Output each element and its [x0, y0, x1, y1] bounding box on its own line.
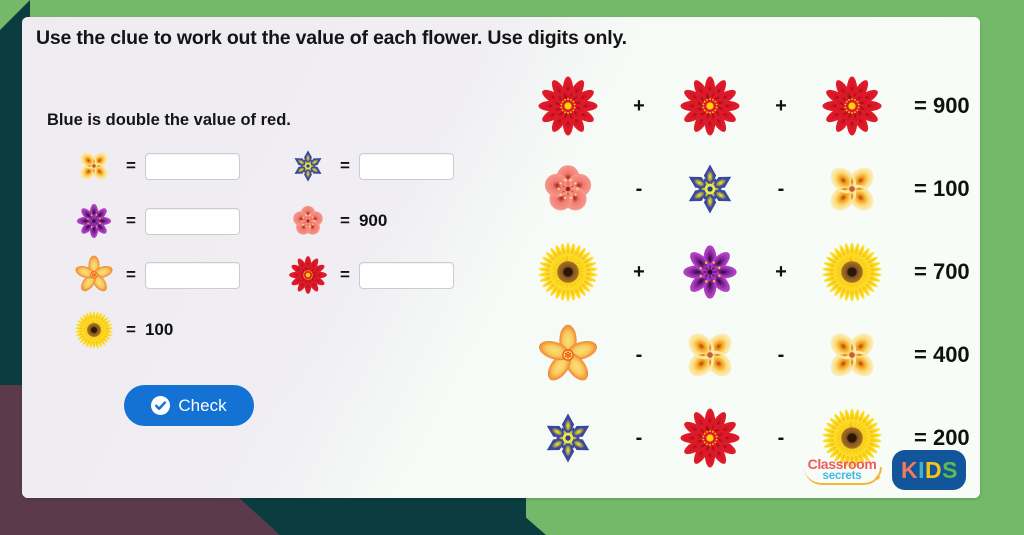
sunflower-flower-glyph — [71, 307, 117, 353]
equals-symbol: = — [126, 265, 136, 285]
red-flower-glyph — [674, 70, 746, 142]
check-button[interactable]: Check — [124, 385, 254, 426]
equation-operator: + — [756, 95, 806, 118]
equation-operator: - — [614, 178, 664, 201]
blue-star-flower-glyph — [532, 402, 604, 474]
kids-logo: K I D S — [892, 450, 966, 490]
red-flower-icon — [522, 70, 614, 142]
blue-star-flower-icon — [522, 402, 614, 474]
answer-input-bluestar[interactable] — [359, 153, 454, 180]
kids-letter-k: K — [901, 457, 917, 484]
equals-symbol: = — [340, 156, 350, 176]
plumeria-flower-glyph — [816, 319, 888, 391]
purple-flower-icon — [70, 198, 118, 244]
equals-symbol: = — [340, 211, 350, 231]
equation-operator: - — [614, 344, 664, 367]
check-circle-icon — [151, 396, 170, 415]
plumeria-flower-glyph — [71, 143, 117, 189]
pink-blossom-flower-glyph — [532, 153, 604, 225]
equation-result: = 700 — [914, 259, 970, 285]
cs-swoosh-decoration — [804, 467, 882, 485]
equation-row: --= 100 — [522, 150, 972, 228]
pink-blossom-flower-icon — [284, 198, 332, 244]
value-row-plumeria: = — [70, 143, 240, 189]
blue-star-flower-glyph — [674, 153, 746, 225]
sunflower-flower-glyph — [532, 236, 604, 308]
purple-flower-glyph — [674, 236, 746, 308]
known-value-blossom: 900 — [359, 211, 387, 231]
blue-star-flower-icon — [284, 143, 332, 189]
orange-flower-icon — [70, 252, 118, 298]
red-flower-glyph — [532, 70, 604, 142]
value-row-bluestar: = — [284, 143, 454, 189]
purple-flower-icon — [664, 236, 756, 308]
value-row-purple: = — [70, 198, 240, 244]
cs-star-icon: ✦ — [874, 473, 882, 484]
answer-input-purple[interactable] — [145, 208, 240, 235]
answer-input-orange[interactable] — [145, 262, 240, 289]
frame-accent-bottom-purple — [0, 495, 260, 535]
known-value-sunflower: 100 — [145, 320, 173, 340]
blue-star-flower-icon — [664, 153, 756, 225]
red-flower-glyph — [285, 252, 331, 298]
plumeria-flower-icon — [70, 143, 118, 189]
equation-operator: + — [756, 261, 806, 284]
equation-result: = 400 — [914, 342, 970, 368]
equation-operator: + — [614, 95, 664, 118]
red-flower-icon — [664, 70, 756, 142]
equals-symbol: = — [340, 265, 350, 285]
answer-input-plumeria[interactable] — [145, 153, 240, 180]
purple-flower-glyph — [71, 198, 117, 244]
equation-row: --= 400 — [522, 316, 972, 394]
red-flower-icon — [806, 70, 898, 142]
value-row-blossom: = 900 — [284, 198, 387, 244]
clue-panel: Blue is double the value of red. = = = — [32, 95, 502, 475]
classroom-secrets-logo: Classroom secrets ✦ — [802, 453, 882, 487]
value-row-orange: = — [70, 252, 240, 298]
plumeria-flower-icon — [664, 319, 756, 391]
plumeria-flower-icon — [806, 153, 898, 225]
logo-area: Classroom secrets ✦ K I D S — [802, 450, 966, 490]
red-flower-icon — [284, 252, 332, 298]
orange-flower-glyph — [71, 252, 117, 298]
answer-input-red[interactable] — [359, 262, 454, 289]
page-title: Use the clue to work out the value of ea… — [36, 27, 627, 50]
sunflower-flower-glyph — [816, 236, 888, 308]
kids-letter-s: S — [942, 457, 957, 484]
equation-operator: - — [756, 344, 806, 367]
red-flower-glyph — [674, 402, 746, 474]
red-flower-icon — [664, 402, 756, 474]
equals-symbol: = — [126, 320, 136, 340]
equation-operator: - — [756, 178, 806, 201]
frame-accent-bottom-teal — [236, 495, 526, 535]
plumeria-flower-icon — [806, 319, 898, 391]
kids-letter-i: I — [918, 457, 924, 484]
equation-row: ++= 900 — [522, 67, 972, 145]
equation-row: ++= 700 — [522, 233, 972, 311]
equation-result: = 900 — [914, 93, 970, 119]
plumeria-flower-glyph — [816, 153, 888, 225]
orange-flower-icon — [522, 319, 614, 391]
equals-symbol: = — [126, 156, 136, 176]
plumeria-flower-glyph — [674, 319, 746, 391]
equals-symbol: = — [126, 211, 136, 231]
blue-star-flower-glyph — [285, 143, 331, 189]
equation-operator: - — [614, 427, 664, 450]
orange-flower-glyph — [532, 319, 604, 391]
pink-blossom-flower-glyph — [285, 198, 331, 244]
sunflower-flower-icon — [522, 236, 614, 308]
equation-result: = 200 — [914, 425, 970, 451]
pink-blossom-flower-icon — [522, 153, 614, 225]
equation-result: = 100 — [914, 176, 970, 202]
equation-operator: + — [614, 261, 664, 284]
content-card: Use the clue to work out the value of ea… — [22, 17, 980, 498]
clue-text: Blue is double the value of red. — [47, 111, 291, 130]
value-row-sunflower: = 100 — [70, 307, 173, 353]
sunflower-flower-icon — [806, 236, 898, 308]
equation-operator: - — [756, 427, 806, 450]
equations-panel: ++= 900--= 100++= 700--= 400--= 200 — [522, 67, 972, 477]
value-row-red: = — [284, 252, 454, 298]
check-button-label: Check — [178, 396, 226, 416]
kids-letter-d: D — [925, 457, 941, 484]
sunflower-flower-icon — [70, 307, 118, 353]
red-flower-glyph — [816, 70, 888, 142]
